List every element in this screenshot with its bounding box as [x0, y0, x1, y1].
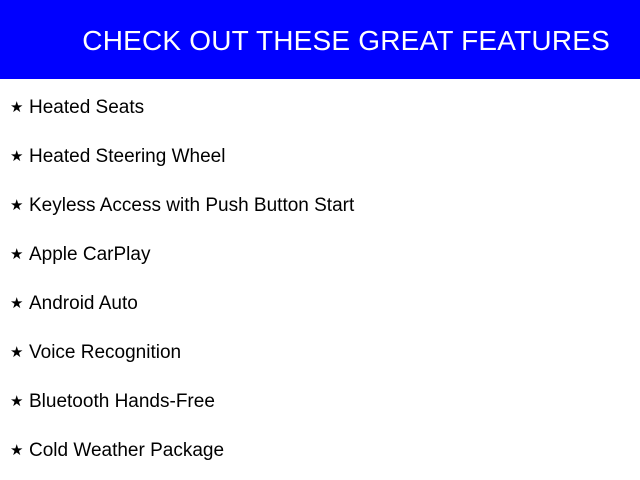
- list-item: ★ Keyless Access with Push Button Start: [0, 181, 640, 230]
- header-banner: CHECK OUT THESE GREAT FEATURES: [0, 0, 640, 79]
- list-item: ★ Bluetooth Hands-Free: [0, 377, 640, 426]
- star-icon: ★: [10, 198, 29, 213]
- star-icon: ★: [10, 345, 29, 360]
- list-item: ★ Heated Steering Wheel: [0, 132, 640, 181]
- list-item: ★ Heated Seats: [0, 83, 640, 132]
- features-slide: CHECK OUT THESE GREAT FEATURES ★ Heated …: [0, 0, 640, 480]
- page-title: CHECK OUT THESE GREAT FEATURES: [82, 27, 610, 55]
- list-item: ★ Voice Recognition: [0, 328, 640, 377]
- star-icon: ★: [10, 100, 29, 115]
- list-item: ★ Apple CarPlay: [0, 230, 640, 279]
- feature-label: Bluetooth Hands-Free: [29, 392, 215, 411]
- star-icon: ★: [10, 149, 29, 164]
- feature-label: Heated Seats: [29, 98, 144, 117]
- star-icon: ★: [10, 296, 29, 311]
- star-icon: ★: [10, 247, 29, 262]
- feature-label: Cold Weather Package: [29, 441, 224, 460]
- feature-label: Android Auto: [29, 294, 138, 313]
- feature-label: Apple CarPlay: [29, 245, 150, 264]
- list-item: ★ Android Auto: [0, 279, 640, 328]
- star-icon: ★: [10, 443, 29, 458]
- feature-label: Keyless Access with Push Button Start: [29, 196, 354, 215]
- feature-label: Voice Recognition: [29, 343, 181, 362]
- star-icon: ★: [10, 394, 29, 409]
- feature-label: Heated Steering Wheel: [29, 147, 225, 166]
- feature-list: ★ Heated Seats ★ Heated Steering Wheel ★…: [0, 79, 640, 480]
- list-item: ★ Cold Weather Package: [0, 426, 640, 475]
